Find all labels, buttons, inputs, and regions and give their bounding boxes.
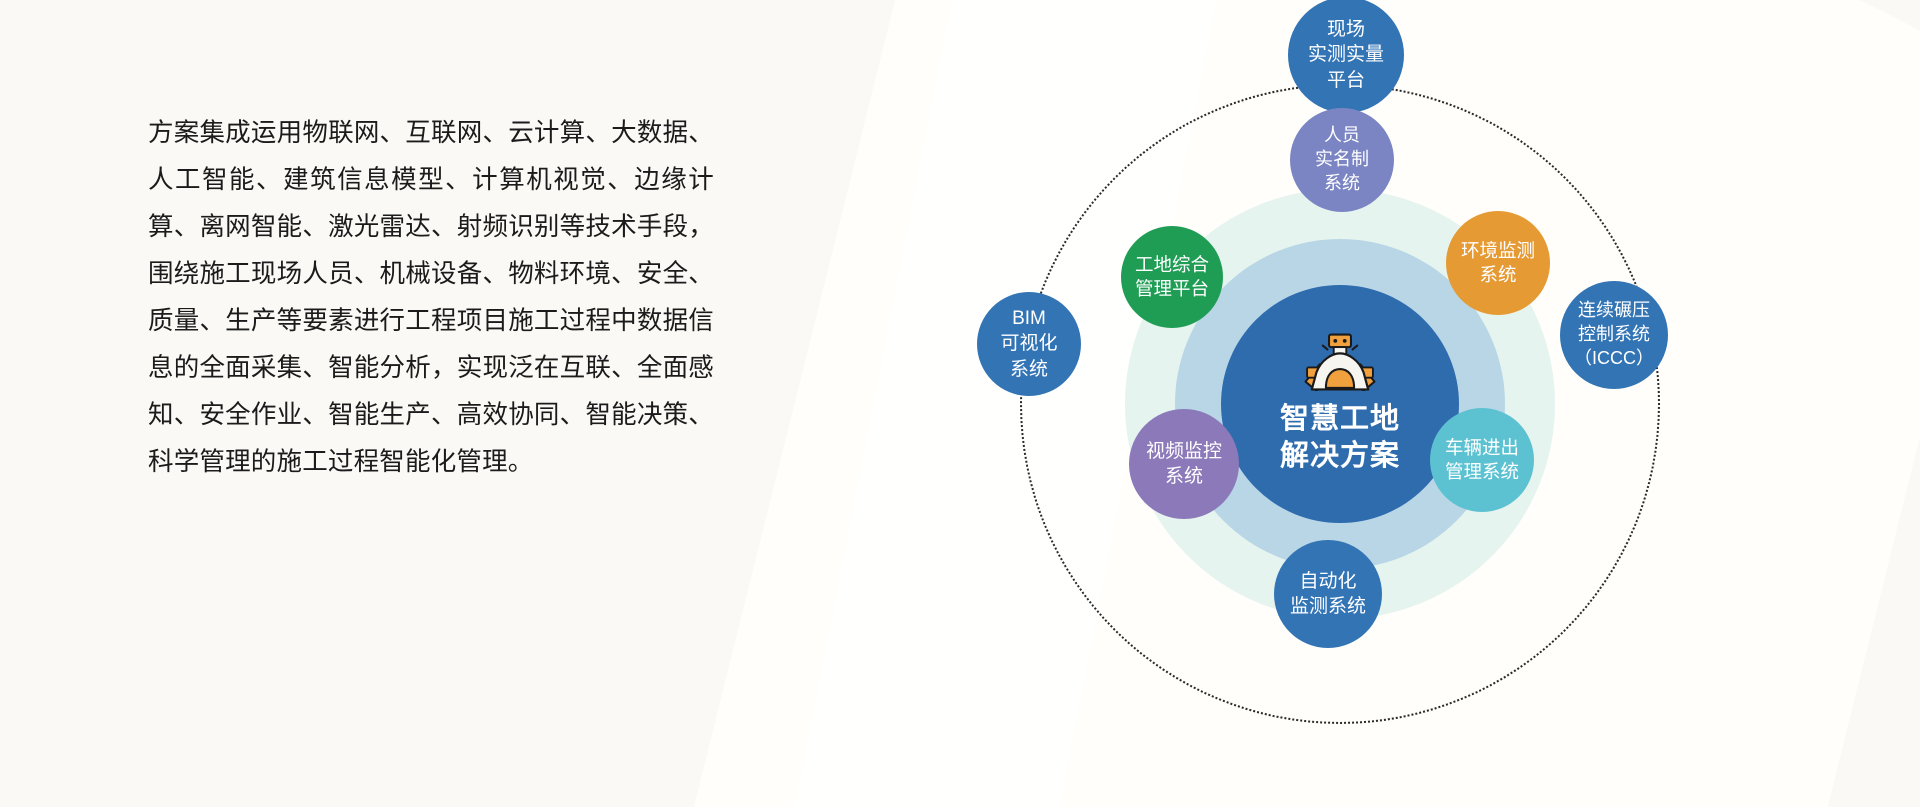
node-site-measurement[interactable]: 现场 实测实量 平台 xyxy=(1288,0,1404,113)
description-paragraph: 方案集成运用物联网、互联网、云计算、大数据、人工智能、建筑信息模型、计算机视觉、… xyxy=(148,110,714,486)
node-bim-visualization[interactable]: BIM 可视化 系统 xyxy=(977,292,1081,396)
center-hub-title: 智慧工地 解决方案 xyxy=(1220,401,1460,475)
node-environment-monitor[interactable]: 环境监测 系统 xyxy=(1446,211,1550,315)
page-root: 方案集成运用物联网、互联网、云计算、大数据、人工智能、建筑信息模型、计算机视觉、… xyxy=(0,0,1920,807)
smart-site-radial-diagram: 智慧工地 解决方案 现场 实测实量 平台人员 实名制 系统环境监测 系统连续碾压… xyxy=(760,0,1920,807)
node-continuous-compaction[interactable]: 连续碾压 控制系统 （ICCC） xyxy=(1560,281,1668,389)
node-label: 视频监控 系统 xyxy=(1142,439,1226,489)
node-label: BIM 可视化 系统 xyxy=(996,306,1061,381)
node-label: 连续碾压 控制系统 （ICCC） xyxy=(1570,299,1658,370)
node-label: 现场 实测实量 平台 xyxy=(1304,17,1388,92)
node-label: 工地综合 管理平台 xyxy=(1131,253,1213,302)
node-label: 自动化 监测系统 xyxy=(1286,569,1370,619)
node-site-integrated-platform[interactable]: 工地综合 管理平台 xyxy=(1121,226,1223,328)
node-automation-monitor[interactable]: 自动化 监测系统 xyxy=(1274,540,1382,648)
node-personnel-realname[interactable]: 人员 实名制 系统 xyxy=(1290,108,1394,212)
center-hub-content: 智慧工地 解决方案 xyxy=(1220,333,1460,475)
node-label: 人员 实名制 系统 xyxy=(1311,124,1373,195)
node-label: 环境监测 系统 xyxy=(1457,239,1539,288)
description-panel: 方案集成运用物联网、互联网、云计算、大数据、人工智能、建筑信息模型、计算机视觉、… xyxy=(148,110,714,486)
construction-gear-icon xyxy=(1299,333,1381,391)
